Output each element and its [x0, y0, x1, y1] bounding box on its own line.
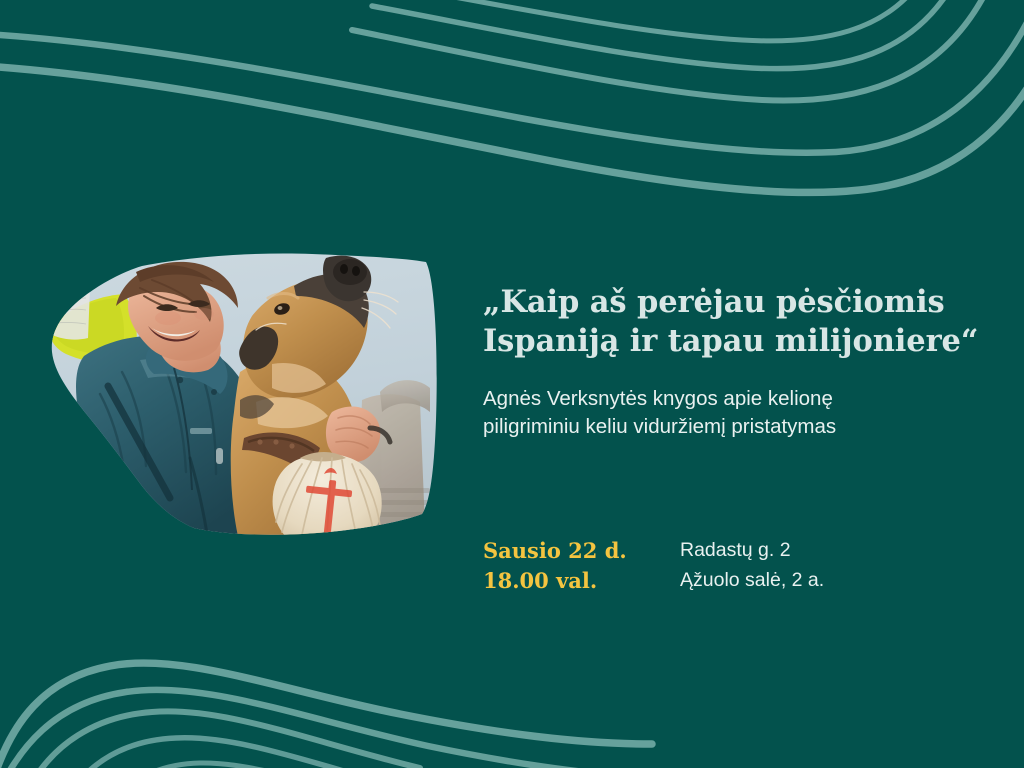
event-datetime: Sausio 22 d. 18.00 val. — [483, 536, 680, 596]
poster-text-column: „Kaip aš perėjau pėsčiomis Ispaniją ir t… — [483, 283, 993, 442]
event-venue: Radastų g. 2 Ąžuolo salė, 2 a. — [680, 536, 824, 596]
event-subtitle: Agnės Verksnytės knygos apie kelionę pil… — [483, 361, 993, 442]
event-photo — [44, 252, 444, 552]
event-poster: „Kaip aš perėjau pėsčiomis Ispaniją ir t… — [0, 0, 1024, 768]
event-title: „Kaip aš perėjau pėsčiomis Ispaniją ir t… — [483, 283, 993, 361]
event-details: Sausio 22 d. 18.00 val. Radastų g. 2 Ąžu… — [483, 536, 824, 596]
